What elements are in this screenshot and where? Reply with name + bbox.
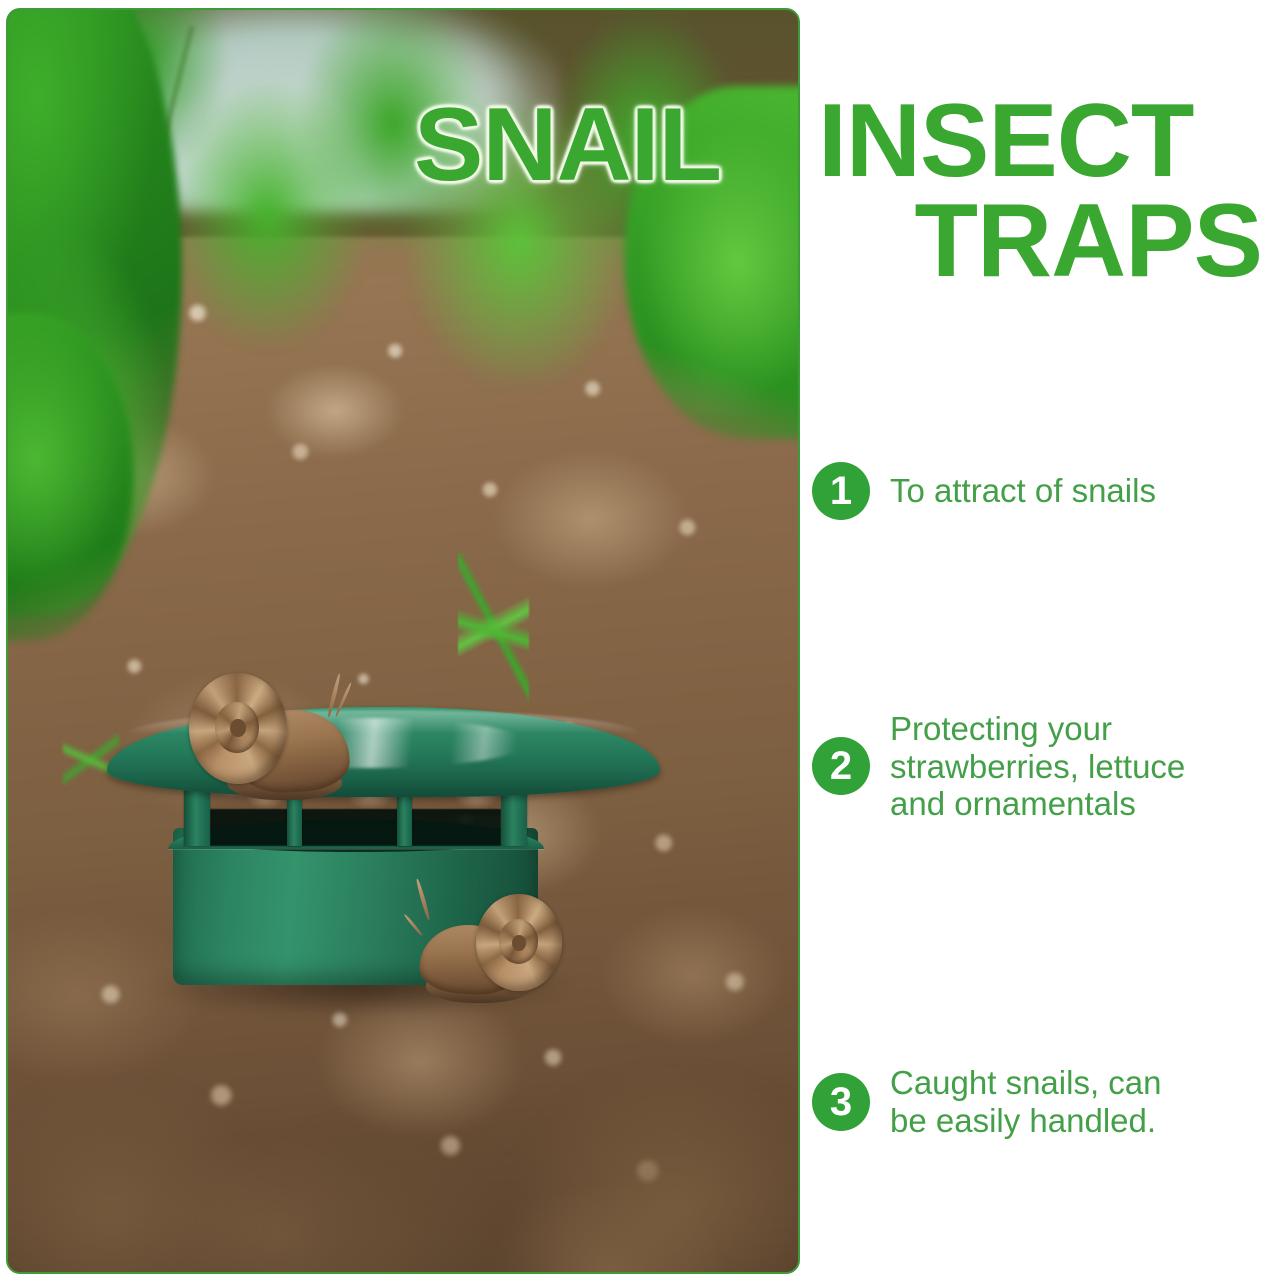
feature-number-badge: 2 <box>812 737 870 795</box>
foreground-soil-blur <box>8 1045 798 1272</box>
feature-item-2: 2 Protecting your strawberries, lettuce … <box>812 710 1274 823</box>
snail-shell <box>189 673 286 784</box>
snail-tentacle <box>403 913 424 937</box>
feature-item-1: 1 To attract of snails <box>812 462 1274 520</box>
product-infographic: SNAIL INSECT TRAPS 1 To attract of snail… <box>0 0 1278 1278</box>
feature-number-badge: 3 <box>812 1073 870 1131</box>
grass-sprig <box>458 553 529 704</box>
title-word-snail: SNAIL <box>414 96 721 196</box>
title-word-traps: TRAPS <box>818 192 1268 292</box>
snail-on-lid <box>186 670 360 803</box>
title-word-insect: INSECT <box>818 92 1268 192</box>
feature-label: Protecting your strawberries, lettuce an… <box>890 710 1185 823</box>
feature-item-3: 3 Caught snails, can be easily handled. <box>812 1064 1274 1139</box>
right-content-panel: INSECT TRAPS 1 To attract of snails 2 Pr… <box>796 0 1278 1278</box>
page-title: INSECT TRAPS <box>818 92 1268 292</box>
feature-label: To attract of snails <box>890 472 1156 510</box>
feature-label: Caught snails, can be easily handled. <box>890 1064 1162 1139</box>
feature-number-badge: 1 <box>812 462 870 520</box>
snail-on-base <box>407 887 565 1006</box>
snail-shell <box>476 894 561 991</box>
trap-interior-shadow <box>210 809 501 846</box>
